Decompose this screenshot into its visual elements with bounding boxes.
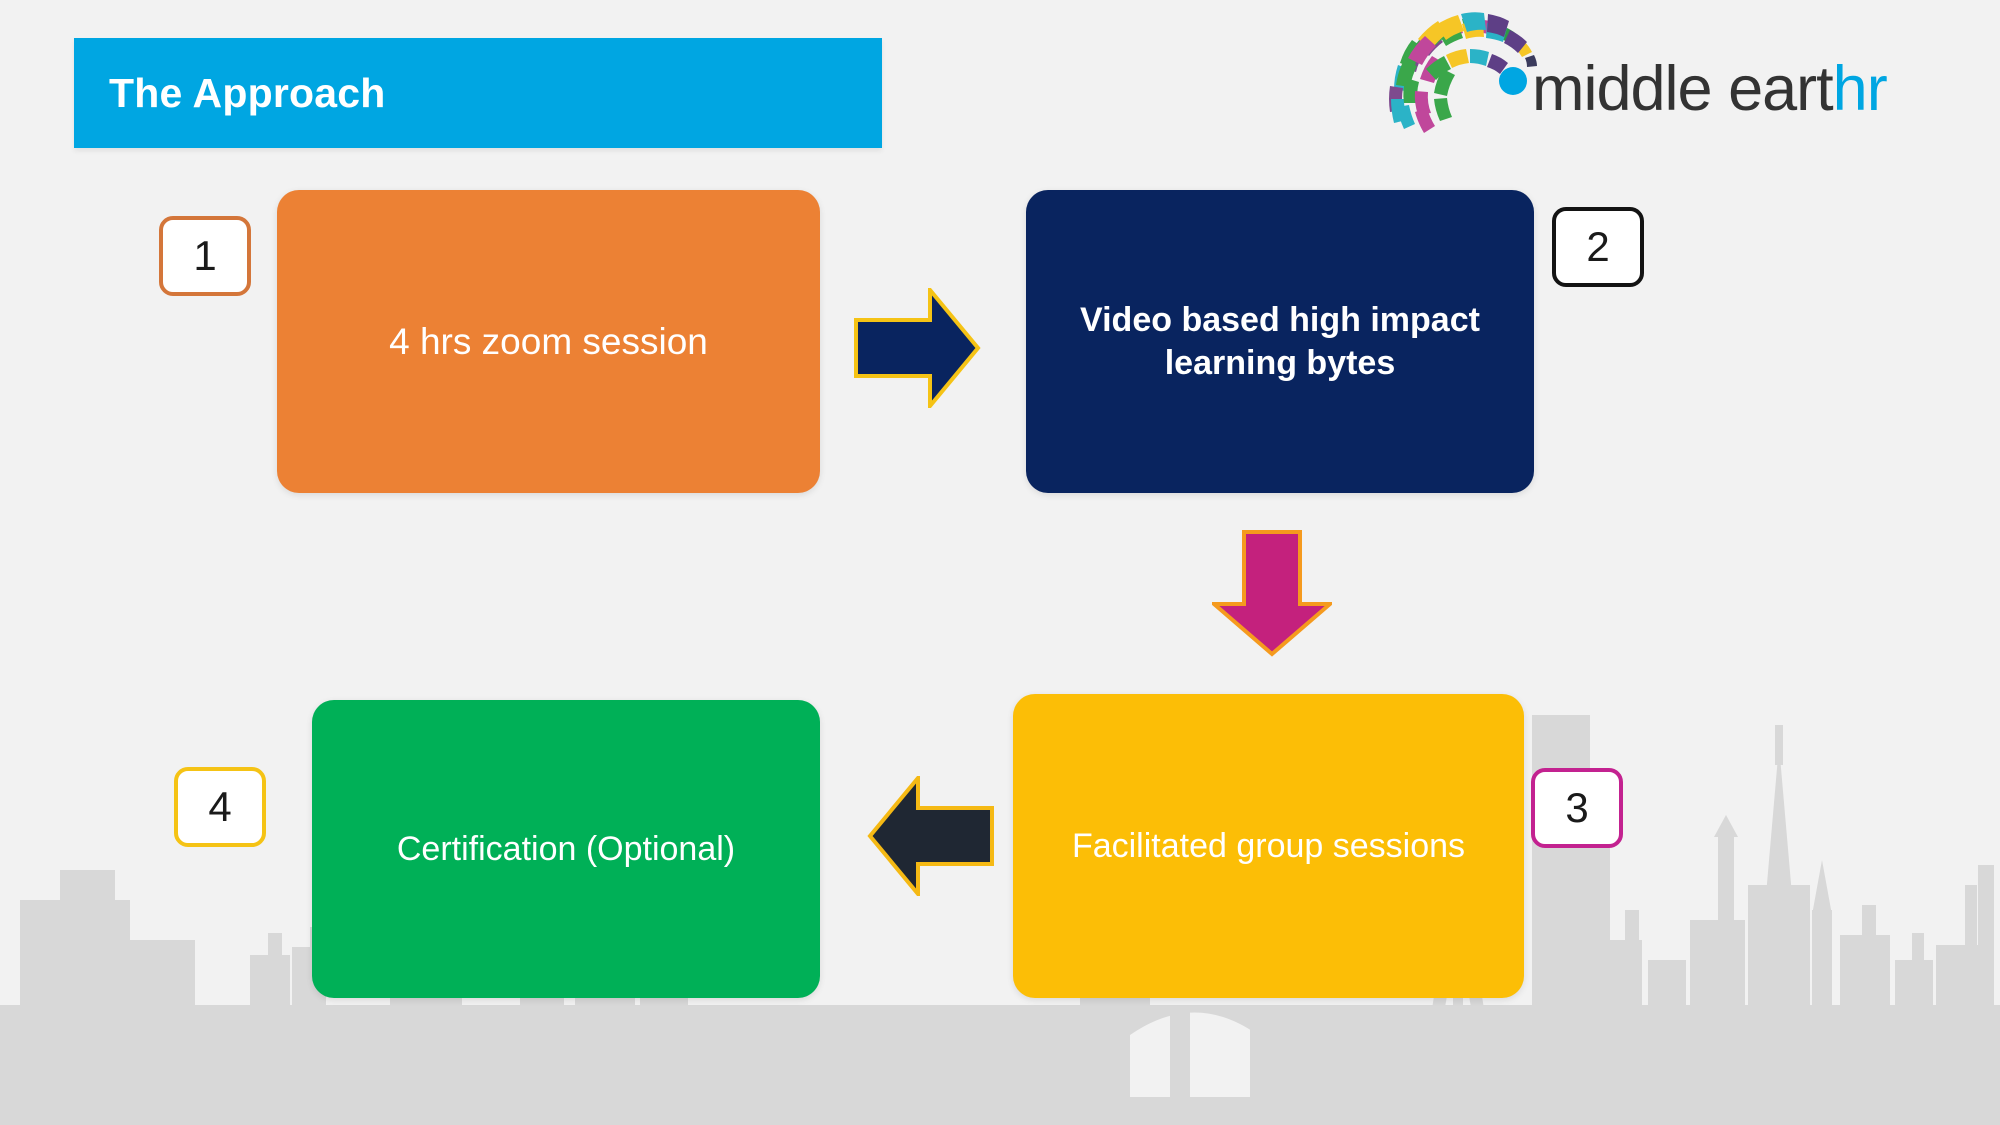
step-number-badge-2: 2 bbox=[1552, 207, 1644, 287]
brand-logo: middle earthr bbox=[1388, 6, 1948, 136]
step-number-1: 1 bbox=[193, 232, 216, 280]
logo-word-dark: middle eart bbox=[1532, 54, 1833, 124]
page-title: The Approach bbox=[109, 70, 386, 117]
slide-canvas: The Approach bbox=[0, 0, 2000, 1125]
arrow-down-icon bbox=[1212, 528, 1332, 658]
step-number-badge-4: 4 bbox=[174, 767, 266, 847]
logo-word-accent: hr bbox=[1833, 54, 1887, 124]
process-box-3[interactable]: Facilitated group sessions bbox=[1013, 694, 1524, 998]
process-box-3-label: Facilitated group sessions bbox=[1072, 827, 1465, 866]
process-box-1-label: 4 hrs zoom session bbox=[389, 321, 708, 363]
process-box-4-label: Certification (Optional) bbox=[397, 830, 735, 869]
process-box-2[interactable]: Video based high impact learning bytes bbox=[1026, 190, 1534, 493]
step-number-badge-1: 1 bbox=[159, 216, 251, 296]
step-number-badge-3: 3 bbox=[1531, 768, 1623, 848]
step-number-3: 3 bbox=[1565, 784, 1588, 832]
process-box-1[interactable]: 4 hrs zoom session bbox=[277, 190, 820, 493]
arrow-right-icon bbox=[852, 288, 982, 408]
step-number-2: 2 bbox=[1586, 223, 1609, 271]
process-box-4[interactable]: Certification (Optional) bbox=[312, 700, 820, 998]
process-box-2-label: Video based high impact learning bytes bbox=[1052, 299, 1508, 384]
logo-wordmark: middle earthr bbox=[1532, 60, 1887, 136]
globe-mosaic-icon bbox=[1388, 11, 1538, 136]
slide-title-bar: The Approach bbox=[74, 38, 882, 148]
arrow-left-icon bbox=[866, 776, 996, 896]
step-number-4: 4 bbox=[208, 783, 231, 831]
city-skyline-silhouette bbox=[0, 705, 2000, 1125]
